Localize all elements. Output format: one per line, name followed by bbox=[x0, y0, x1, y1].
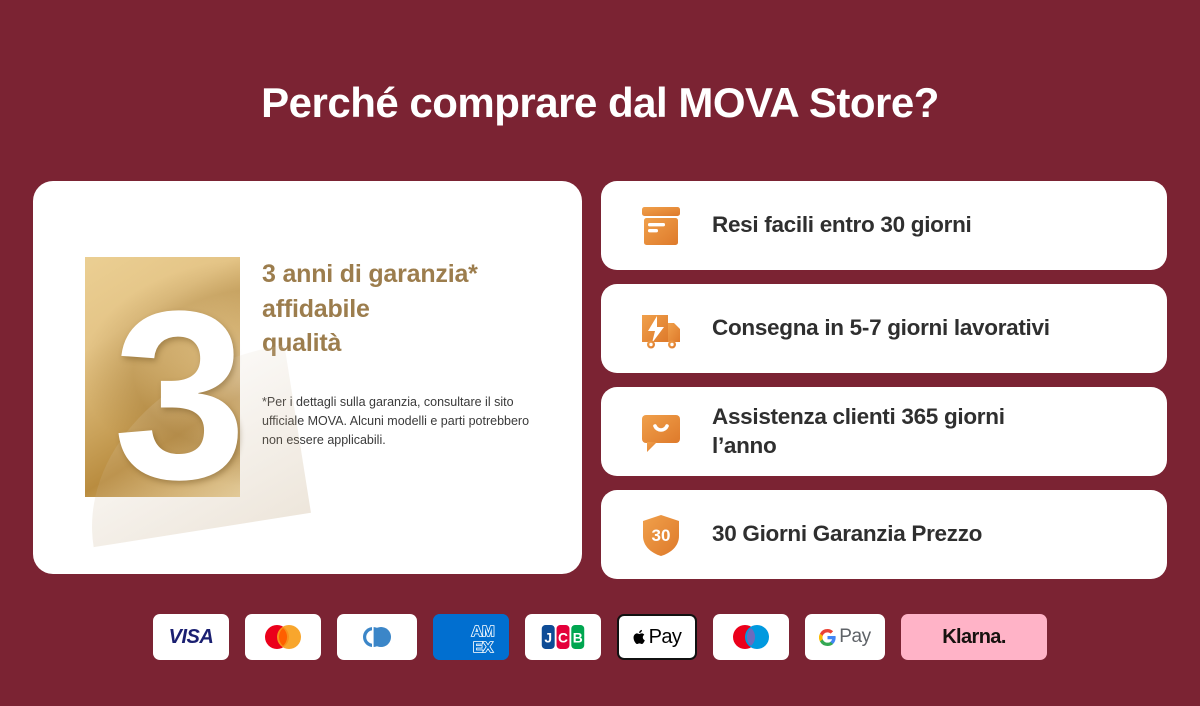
apple-pay-label: Pay bbox=[649, 626, 682, 649]
mastercard-icon bbox=[259, 622, 307, 652]
payment-badge-mastercard bbox=[245, 614, 321, 660]
svg-text:C: C bbox=[558, 630, 568, 646]
payment-badge-jcb: J C B bbox=[525, 614, 601, 660]
visa-logo-text: VISA bbox=[169, 626, 214, 649]
payment-methods-row: VISA AM EX J bbox=[0, 614, 1200, 660]
google-g-icon bbox=[819, 629, 836, 646]
svg-text:B: B bbox=[573, 630, 583, 646]
amex-icon: AM EX bbox=[433, 614, 509, 660]
apple-pay-logo: Pay bbox=[633, 626, 682, 649]
feature-card-returns[interactable]: Resi facili entro 30 giorni bbox=[601, 181, 1167, 270]
warranty-years-number: 3 bbox=[113, 275, 240, 515]
warranty-footnote: *Per i dettagli sulla garanzia, consulta… bbox=[262, 393, 530, 451]
payment-badge-visa: VISA bbox=[153, 614, 229, 660]
warranty-heading: 3 anni di garanzia* affidabile qualità bbox=[262, 257, 530, 361]
feature-label: Consegna in 5-7 giorni lavorativi bbox=[712, 314, 1050, 343]
delivery-truck-icon bbox=[638, 306, 684, 352]
klarna-logo-text: Klarna. bbox=[942, 626, 1006, 649]
warranty-card: 3 3 anni di garanzia* affidabile qualità… bbox=[33, 181, 582, 574]
payment-badge-google-pay: Pay bbox=[805, 614, 885, 660]
svg-text:J: J bbox=[544, 630, 552, 646]
feature-card-list: Resi facili entro 30 giorni bbox=[601, 181, 1167, 579]
feature-card-support[interactable]: Assistenza clienti 365 giorni l’anno bbox=[601, 387, 1167, 476]
content-row: 3 3 anni di garanzia* affidabile qualità… bbox=[33, 181, 1167, 579]
svg-text:AM: AM bbox=[471, 623, 494, 640]
shield-30-icon: 30 bbox=[638, 512, 684, 558]
box-icon bbox=[638, 203, 684, 249]
payment-badge-apple-pay: Pay bbox=[617, 614, 697, 660]
google-pay-label: Pay bbox=[839, 626, 871, 648]
apple-icon bbox=[633, 629, 647, 645]
payment-badge-maestro bbox=[713, 614, 789, 660]
payment-badge-amex: AM EX bbox=[433, 614, 509, 660]
payment-badge-klarna: Klarna. bbox=[901, 614, 1047, 660]
feature-label: 30 Giorni Garanzia Prezzo bbox=[712, 520, 982, 549]
warranty-badge-graphic: 3 bbox=[85, 257, 240, 497]
diners-club-icon bbox=[352, 622, 402, 652]
feature-card-delivery[interactable]: Consegna in 5-7 giorni lavorativi bbox=[601, 284, 1167, 373]
feature-label: Assistenza clienti 365 giorni l’anno bbox=[712, 403, 1005, 460]
jcb-icon: J C B bbox=[539, 622, 587, 652]
maestro-icon bbox=[727, 622, 775, 652]
shield-badge-number: 30 bbox=[652, 526, 671, 545]
svg-text:EX: EX bbox=[473, 639, 493, 656]
feature-card-price-guarantee[interactable]: 30 30 Giorni Garanzia Prezzo bbox=[601, 490, 1167, 579]
page-title: Perché comprare dal MOVA Store? bbox=[0, 0, 1200, 124]
chat-support-icon bbox=[638, 409, 684, 455]
feature-label: Resi facili entro 30 giorni bbox=[712, 211, 971, 240]
payment-badge-diners-club bbox=[337, 614, 417, 660]
